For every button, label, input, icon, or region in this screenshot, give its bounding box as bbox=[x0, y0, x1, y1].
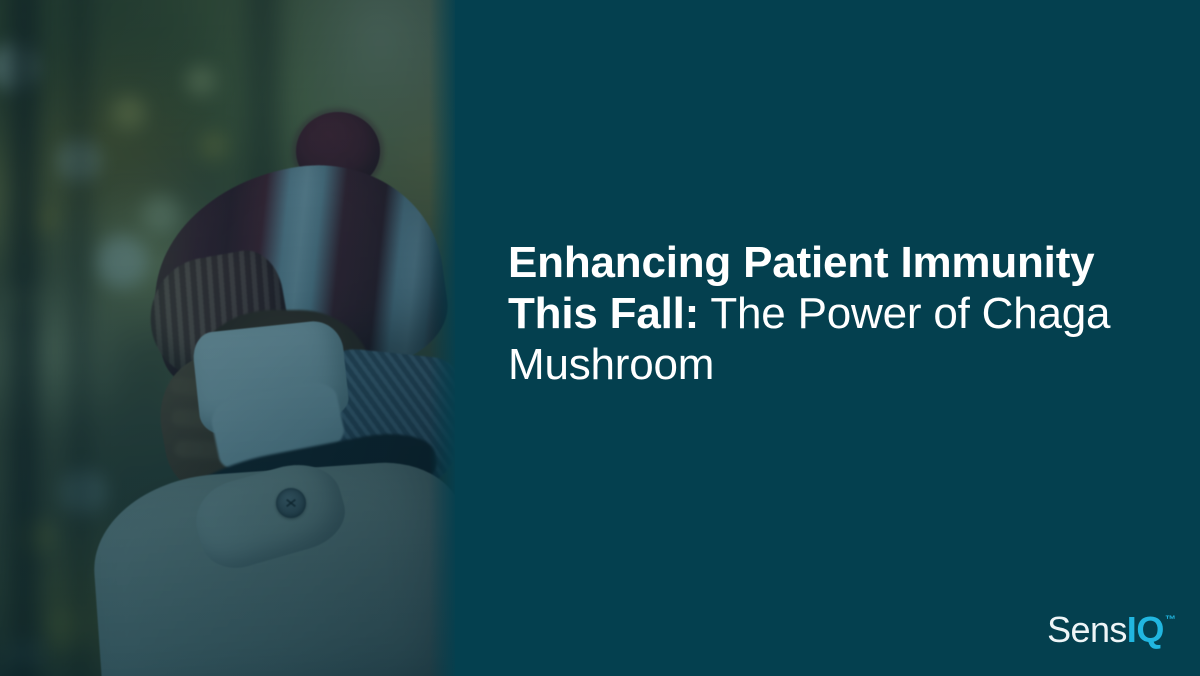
sensiq-logo: SensIQ™ bbox=[1047, 612, 1176, 648]
trademark-icon: ™ bbox=[1165, 615, 1176, 626]
photo-edge-fade bbox=[429, 0, 455, 676]
content-panel: Enhancing Patient Immunity This Fall: Th… bbox=[455, 0, 1200, 676]
logo-word-iq: IQ bbox=[1127, 612, 1164, 648]
hero-photo bbox=[0, 0, 455, 676]
presentation-slide: Enhancing Patient Immunity This Fall: Th… bbox=[0, 0, 1200, 676]
photo-stage bbox=[0, 0, 455, 676]
teal-wash-overlay bbox=[0, 0, 455, 676]
logo-word-sens: Sens bbox=[1047, 612, 1127, 648]
slide-title: Enhancing Patient Immunity This Fall: Th… bbox=[508, 237, 1168, 390]
